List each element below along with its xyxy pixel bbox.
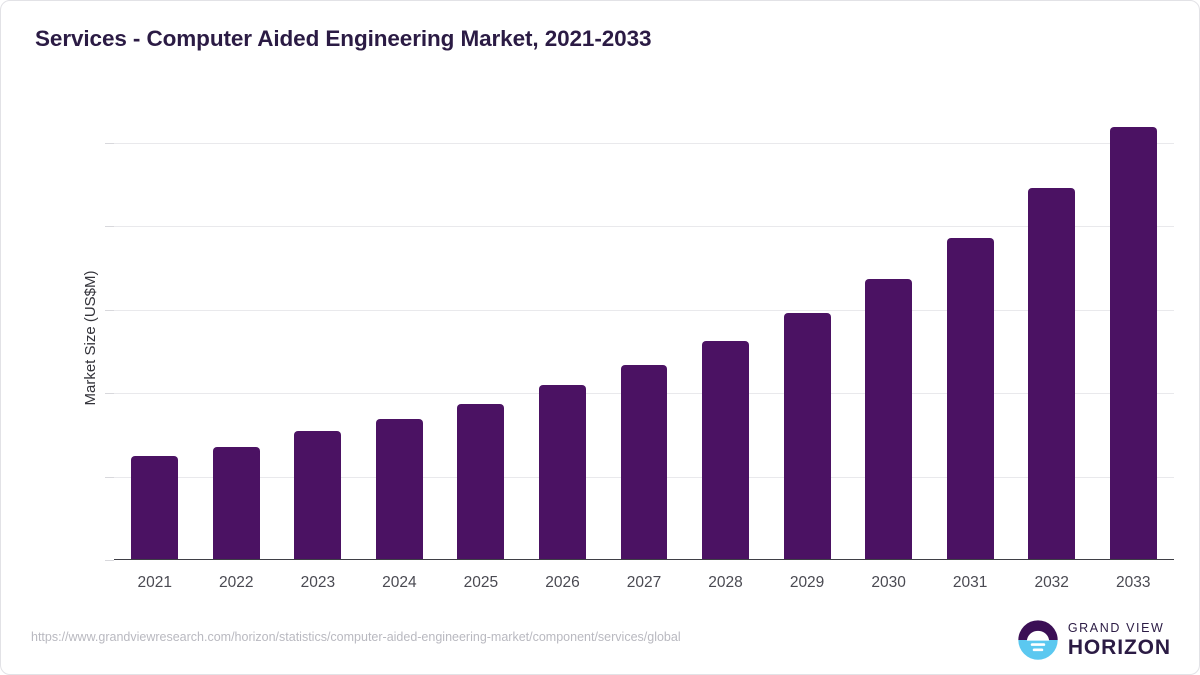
y-axis-tick-mark <box>105 226 114 227</box>
bar[interactable] <box>213 447 260 560</box>
bar[interactable] <box>539 385 586 560</box>
source-url[interactable]: https://www.grandviewresearch.com/horizo… <box>31 630 681 644</box>
bar-column[interactable] <box>784 101 831 560</box>
x-axis-tick-label: 2023 <box>301 574 335 592</box>
bar-series <box>114 101 1174 560</box>
plot-area: 02k4k6k8k10k <box>114 101 1174 560</box>
logo-top-text: GRAND VIEW <box>1068 622 1171 635</box>
x-axis-tick-label: 2033 <box>1116 574 1150 592</box>
x-axis-tick-label: 2021 <box>138 574 172 592</box>
x-axis-tick-label: 2032 <box>1034 574 1068 592</box>
horizon-logo-icon <box>1017 619 1059 661</box>
bar[interactable] <box>294 431 341 560</box>
y-axis-title: Market Size (US$M) <box>82 270 99 405</box>
bar[interactable] <box>865 279 912 560</box>
bar[interactable] <box>702 341 749 560</box>
bar[interactable] <box>947 238 994 560</box>
x-axis-line <box>114 559 1174 561</box>
y-axis-tick-mark <box>105 143 114 144</box>
x-axis-tick-label: 2027 <box>627 574 661 592</box>
bar-column[interactable] <box>865 101 912 560</box>
x-axis-tick-label: 2022 <box>219 574 253 592</box>
bar[interactable] <box>457 404 504 560</box>
y-axis-tick-mark <box>105 393 114 394</box>
bar-column[interactable] <box>1028 101 1075 560</box>
bar-column[interactable] <box>294 101 341 560</box>
bar-column[interactable] <box>947 101 994 560</box>
x-axis-tick-label: 2025 <box>464 574 498 592</box>
bar[interactable] <box>621 365 668 560</box>
x-axis-tick-label: 2030 <box>871 574 905 592</box>
x-axis-tick-label: 2026 <box>545 574 579 592</box>
bar-column[interactable] <box>621 101 668 560</box>
bar-column[interactable] <box>1110 101 1157 560</box>
y-axis-tick-mark <box>105 477 114 478</box>
y-axis-tick-mark <box>105 310 114 311</box>
x-axis-tick-label: 2031 <box>953 574 987 592</box>
bar[interactable] <box>131 456 178 560</box>
brand-logo: GRAND VIEW HORIZON <box>1017 619 1171 661</box>
y-axis-tick-mark <box>105 560 114 561</box>
bar[interactable] <box>1028 188 1075 560</box>
x-axis-tick-label: 2028 <box>708 574 742 592</box>
bar-column[interactable] <box>539 101 586 560</box>
x-axis-tick-label: 2024 <box>382 574 416 592</box>
x-axis-tick-label: 2029 <box>790 574 824 592</box>
bar-column[interactable] <box>131 101 178 560</box>
page-title: Services - Computer Aided Engineering Ma… <box>35 26 651 52</box>
chart-card: Services - Computer Aided Engineering Ma… <box>0 0 1200 675</box>
bar[interactable] <box>1110 127 1157 560</box>
bar-column[interactable] <box>376 101 423 560</box>
bar[interactable] <box>376 419 423 560</box>
bar-column[interactable] <box>213 101 260 560</box>
bar-column[interactable] <box>702 101 749 560</box>
logo-bottom-text: HORIZON <box>1068 637 1171 658</box>
bar-column[interactable] <box>457 101 504 560</box>
bar[interactable] <box>784 313 831 560</box>
logo-wordmark: GRAND VIEW HORIZON <box>1068 622 1171 659</box>
